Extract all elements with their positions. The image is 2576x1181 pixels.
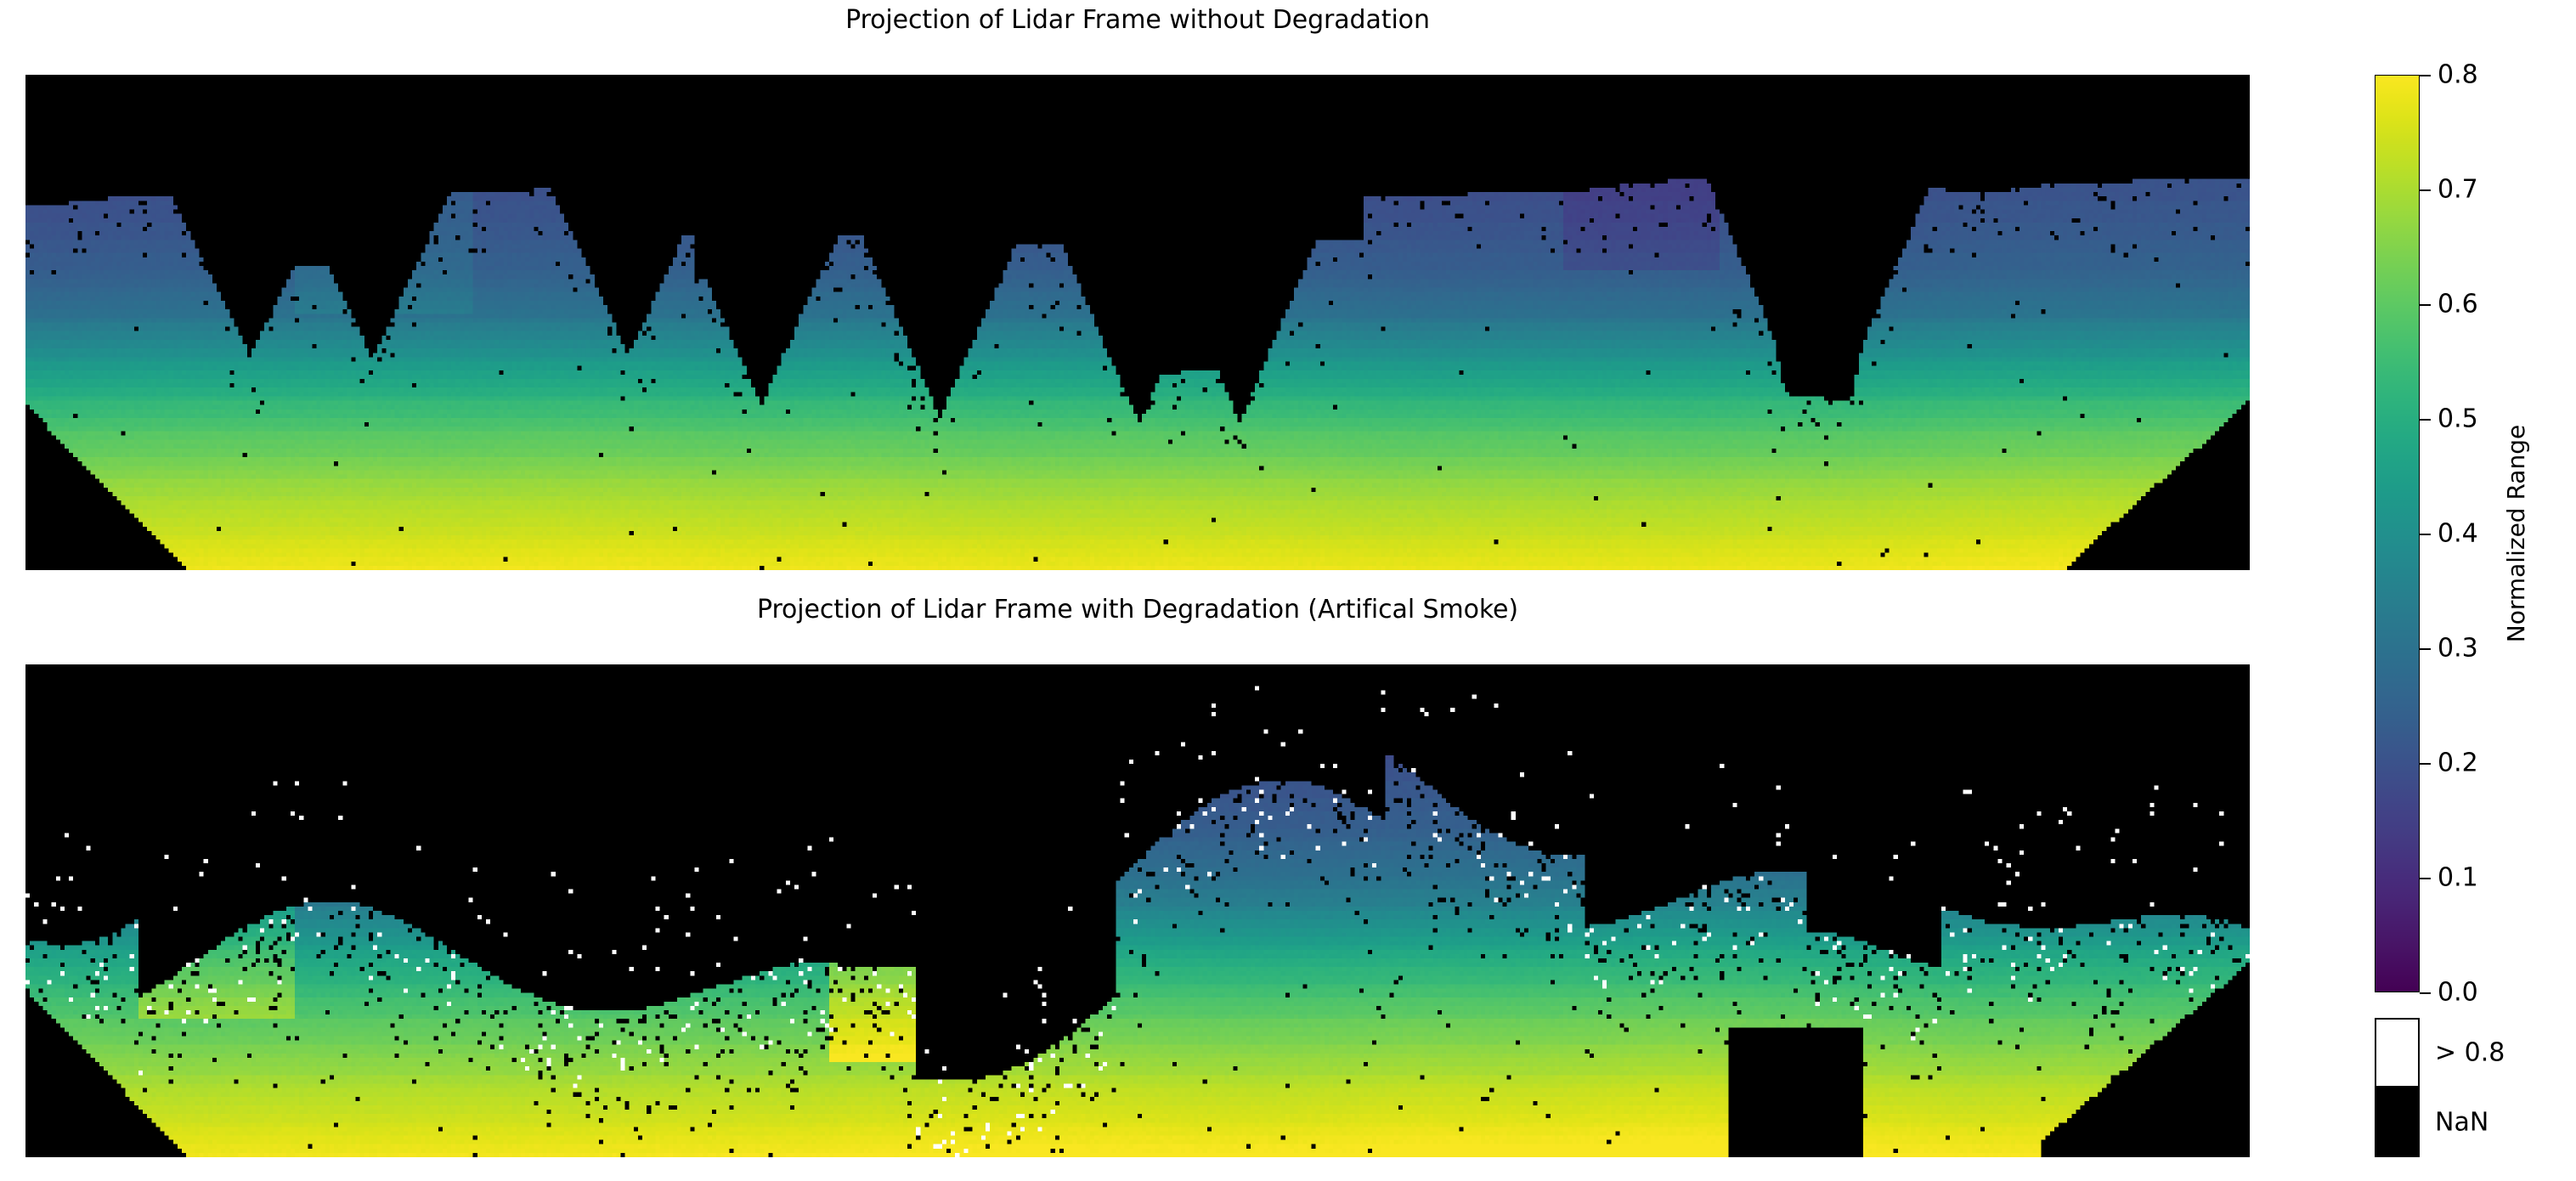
colorbar-tick-mark	[2420, 75, 2431, 76]
legend-swatch-over-range	[2375, 1018, 2420, 1088]
colorbar-tick-mark	[2420, 304, 2431, 306]
colorbar-tick-label: 0.5	[2438, 404, 2478, 434]
colorbar-tick-mark	[2420, 992, 2431, 994]
figure-canvas: Projection of Lidar Frame without Degrad…	[0, 0, 2576, 1181]
legend-swatch-nan	[2375, 1088, 2420, 1157]
legend-label-nan: NaN	[2435, 1108, 2488, 1138]
legend	[2375, 1018, 2420, 1157]
lidar-range-image-degraded	[25, 664, 2250, 1157]
colorbar-tick-mark	[2420, 648, 2431, 650]
colorbar: 0.00.10.20.30.40.50.60.70.8	[2375, 75, 2420, 992]
colorbar-tick-mark	[2420, 878, 2431, 879]
colorbar-tick-mark	[2420, 534, 2431, 535]
lidar-range-image-clean	[25, 75, 2250, 570]
colorbar-tick-mark	[2420, 763, 2431, 765]
colorbar-tick-label: 0.2	[2438, 749, 2478, 778]
lidar-image-top	[25, 75, 2250, 570]
colorbar-tick-label: 0.4	[2438, 519, 2478, 549]
colorbar-gradient	[2375, 75, 2420, 992]
legend-label-over-range: > 0.8	[2435, 1038, 2505, 1068]
colorbar-tick-label: 0.7	[2438, 175, 2478, 205]
lidar-image-bottom	[25, 664, 2250, 1157]
colorbar-tick-mark	[2420, 419, 2431, 421]
colorbar-axis-label: Normalized Range	[2502, 425, 2530, 642]
panel-title-top: Projection of Lidar Frame without Degrad…	[25, 5, 2250, 35]
colorbar-tick-label: 0.0	[2438, 978, 2478, 1008]
colorbar-tick-label: 0.3	[2438, 634, 2478, 664]
colorbar-tick-label: 0.6	[2438, 290, 2478, 319]
colorbar-tick-mark	[2420, 189, 2431, 191]
colorbar-tick-label: 0.8	[2438, 60, 2478, 90]
panel-title-bottom: Projection of Lidar Frame with Degradati…	[25, 595, 2250, 624]
colorbar-tick-label: 0.1	[2438, 863, 2478, 893]
